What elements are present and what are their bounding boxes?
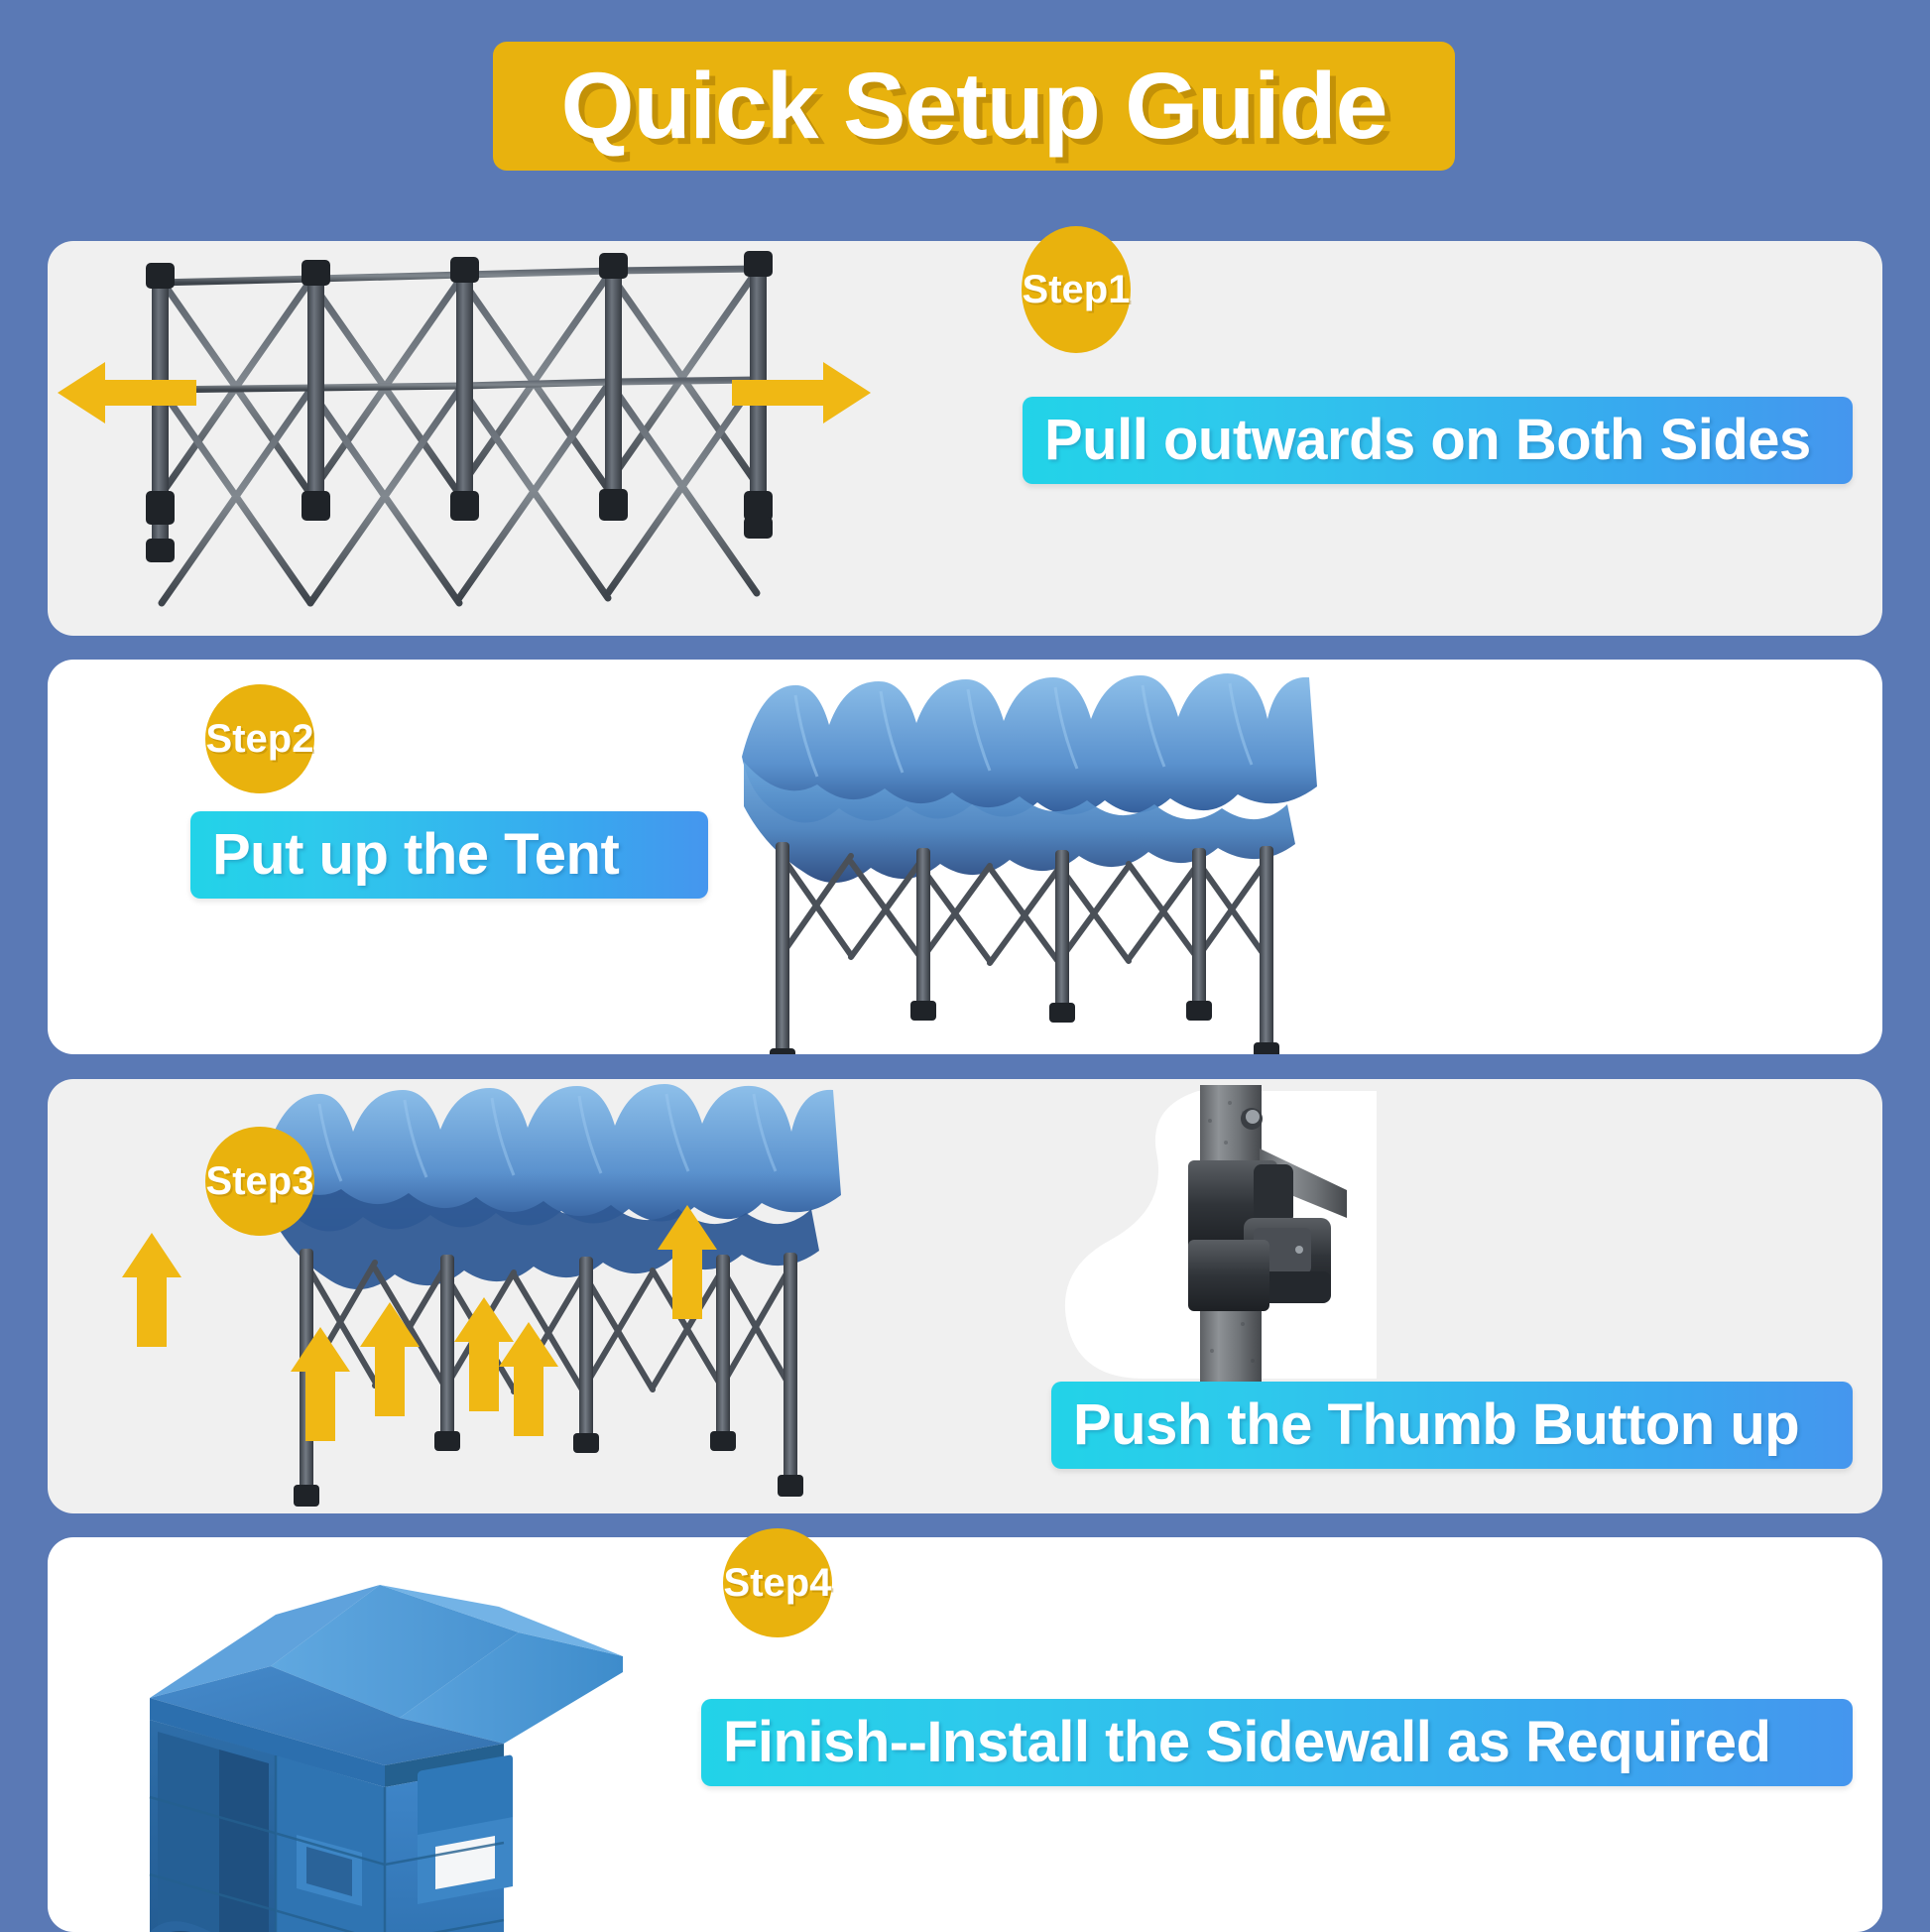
page-title: Quick Setup Guide [561,60,1387,154]
step-label-3: Push the Thumb Button up [1073,1396,1799,1454]
step-badge-1: Step1 [1022,226,1131,353]
step-label-4: Finish--Install the Sidewall as Required [723,1714,1770,1771]
step-label-banner-1: Pull outwards on Both Sides [1023,397,1853,484]
step-label-banner-3: Push the Thumb Button up [1051,1382,1853,1469]
page-title-banner: Quick Setup Guide [493,42,1455,171]
arrow-left-icon [58,358,196,427]
step-badge-2: Step2 [205,684,314,793]
thumb-button-closeup-callout [1049,1091,1377,1379]
step-badge-4: Step4 [723,1528,832,1637]
step-label-banner-2: Put up the Tent [190,811,708,899]
step-badge-3: Step3 [205,1127,314,1236]
step-label-banner-4: Finish--Install the Sidewall as Required [701,1699,1853,1786]
arrow-right-icon [732,358,871,427]
step-label-2: Put up the Tent [212,826,619,884]
step-label-1: Pull outwards on Both Sides [1044,412,1811,469]
